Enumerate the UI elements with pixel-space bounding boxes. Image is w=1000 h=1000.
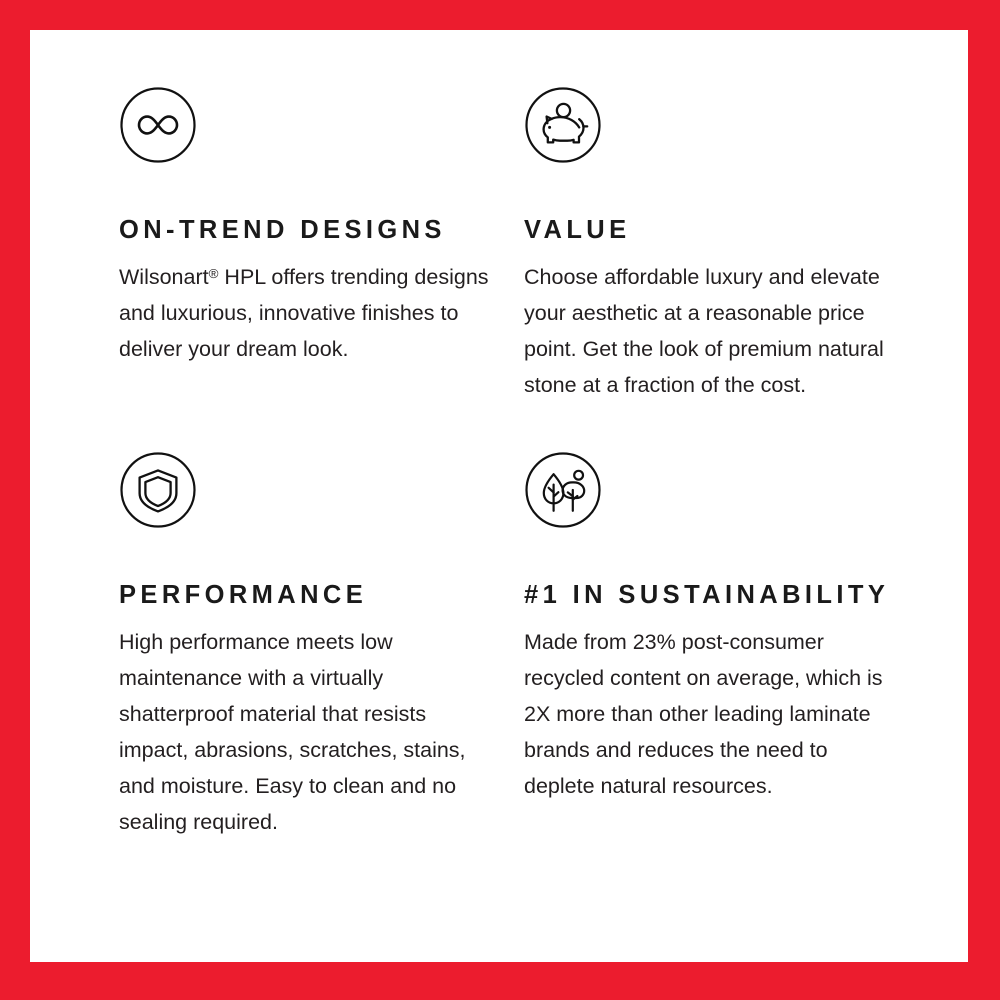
feature-title: PERFORMANCE	[119, 577, 499, 613]
feature-performance: PERFORMANCE High performance meets low m…	[119, 451, 499, 840]
shield-icon	[119, 451, 197, 529]
page-background: ON-TREND DESIGNS Wilsonart® HPL offers t…	[0, 0, 1000, 1000]
trees-sun-icon	[524, 451, 602, 529]
feature-body: High performance meets low maintenance w…	[119, 624, 499, 840]
piggy-bank-icon	[524, 86, 602, 164]
feature-title: ON-TREND DESIGNS	[119, 212, 499, 248]
feature-title: #1 IN SUSTAINABILITY	[524, 577, 904, 613]
feature-value: VALUE Choose affordable luxury and eleva…	[524, 86, 904, 403]
feature-on-trend-designs: ON-TREND DESIGNS Wilsonart® HPL offers t…	[119, 86, 499, 367]
features-grid: ON-TREND DESIGNS Wilsonart® HPL offers t…	[30, 30, 968, 962]
content-card: ON-TREND DESIGNS Wilsonart® HPL offers t…	[30, 30, 968, 962]
feature-body-pre: Wilsonart	[119, 265, 209, 289]
feature-body: Made from 23% post-consumer recycled con…	[524, 624, 904, 804]
feature-body: Wilsonart® HPL offers trending designs a…	[119, 259, 499, 367]
registered-trademark-mark: ®	[209, 266, 219, 281]
feature-sustainability: #1 IN SUSTAINABILITY Made from 23% post-…	[524, 451, 904, 804]
feature-body: Choose affordable luxury and elevate you…	[524, 259, 904, 403]
feature-title: VALUE	[524, 212, 904, 248]
infinity-icon	[119, 86, 197, 164]
